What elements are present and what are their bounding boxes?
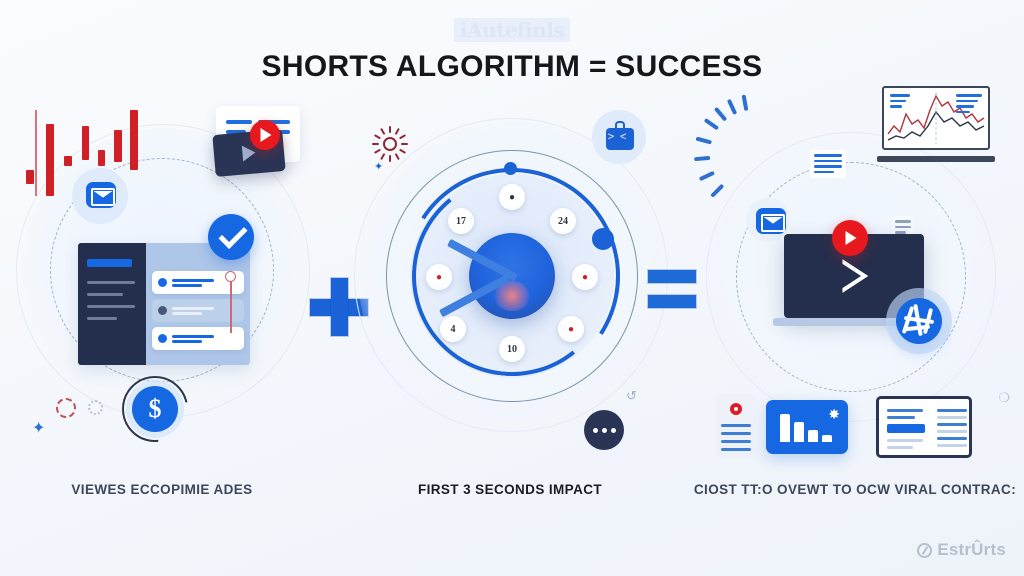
- dollar-icon[interactable]: $: [132, 386, 178, 432]
- laptop-text-left: [890, 94, 910, 111]
- clock-node-label: 24: [558, 216, 568, 227]
- tick-fan-icon: [694, 94, 814, 214]
- mail-icon[interactable]: [756, 208, 786, 234]
- bar: [808, 430, 818, 442]
- arc-knob-right: [592, 228, 614, 250]
- clock-node[interactable]: ●: [499, 184, 525, 210]
- close-icon: ❍: [998, 390, 1010, 406]
- sidebar-line: [87, 293, 123, 296]
- clock-node[interactable]: 4: [440, 316, 466, 342]
- brand-logo: EstrÛrts: [917, 540, 1006, 560]
- table-line: [937, 416, 967, 419]
- dashboard-sidebar: [78, 243, 146, 365]
- table-line: [937, 437, 967, 440]
- play-button[interactable]: [250, 120, 280, 150]
- sidebar-highlight: [87, 259, 132, 267]
- doc-line: [721, 432, 751, 435]
- clock-node-label: ●: [568, 324, 574, 335]
- panel-left: $ ✦: [12, 88, 312, 468]
- doc-line: [721, 424, 751, 427]
- briefcase-chevrons: ><: [606, 131, 634, 143]
- sunburst-icon: [372, 126, 408, 162]
- candle-bar: [82, 126, 89, 160]
- play-triangle-icon: [846, 231, 857, 245]
- clock-node[interactable]: ●: [572, 264, 598, 290]
- caption-left: VIEWES ECCOPIMIE ADES: [12, 482, 312, 497]
- dashboard-mockup[interactable]: [78, 243, 250, 365]
- doc-line: [721, 440, 751, 443]
- row-avatar: [158, 306, 167, 315]
- table-line: [887, 416, 915, 419]
- sidebar-line: [87, 317, 117, 320]
- more-dots-button[interactable]: [584, 410, 624, 450]
- sparkle-icon: ✸: [828, 406, 840, 423]
- table-line: [887, 439, 923, 442]
- table-block: [887, 424, 925, 433]
- panel-right: ✸ ❍: [700, 88, 1018, 468]
- candle-bar: [98, 150, 105, 166]
- emblem-icon[interactable]: [896, 298, 942, 344]
- sparkle-icon: ✦: [32, 418, 45, 438]
- brand-mark-icon: [917, 543, 932, 558]
- row-line: [172, 279, 214, 282]
- caption-right: CIOST TT:O OVEWT TO OCW VIRAL CONTRAC:: [690, 482, 1020, 497]
- doc-lines: [814, 154, 842, 176]
- dollar-symbol: $: [149, 394, 162, 424]
- sun-core: [383, 137, 397, 151]
- row-line: [172, 340, 202, 343]
- dot: [611, 428, 616, 433]
- table-line: [937, 444, 967, 447]
- video-card-line: [226, 120, 252, 124]
- bar: [794, 422, 804, 442]
- sidebar-line: [87, 305, 135, 308]
- clock-node-label: ●: [436, 272, 442, 283]
- briefcase-handle: [615, 121, 625, 129]
- candle-bar: [46, 124, 54, 196]
- bar: [780, 414, 790, 442]
- clock-node-label: 17: [456, 216, 466, 227]
- equals-operator: [648, 268, 696, 310]
- table-line: [887, 446, 913, 449]
- dot: [602, 428, 607, 433]
- table-line: [887, 409, 923, 412]
- clock-dial: ● 17 24 ● ● 4 ● 10: [386, 150, 638, 402]
- briefcase-icon[interactable]: ><: [606, 128, 634, 150]
- bar: [822, 435, 832, 442]
- clock-node-label: 4: [451, 324, 456, 335]
- clock-node-label: 10: [507, 344, 517, 355]
- table-line: [937, 423, 967, 426]
- laptop-chart[interactable]: [882, 86, 990, 162]
- link-icon: ↺: [626, 388, 637, 404]
- equals-bar-top: [648, 270, 696, 283]
- laptop-screen: [882, 86, 990, 150]
- clock-node[interactable]: 10: [499, 336, 525, 362]
- page-title: SHORTS ALGORITHM = SUCCESS: [0, 50, 1024, 84]
- sparkle-icon: ✦: [374, 160, 383, 173]
- mail-icon[interactable]: [86, 182, 116, 208]
- row-line: [172, 335, 214, 338]
- row-line: [172, 312, 202, 315]
- dot: [593, 428, 598, 433]
- document-lines-top: [810, 150, 846, 178]
- laptop-text-right: [956, 94, 982, 116]
- dotted-ring-icon: [56, 398, 76, 418]
- row-avatar: [158, 334, 167, 343]
- sidebar-line: [87, 281, 135, 284]
- clock-node[interactable]: 24: [550, 208, 576, 234]
- candle-bar: [26, 170, 34, 184]
- play-triangle-icon: [842, 259, 868, 293]
- arc-knob-top: [504, 162, 517, 175]
- document-card[interactable]: [716, 394, 756, 458]
- bar-chart-card[interactable]: ✸: [766, 400, 848, 454]
- table-line: [937, 430, 967, 433]
- clock-node-label: ●: [509, 192, 515, 203]
- row-avatar: [158, 278, 167, 287]
- check-badge: [208, 214, 254, 260]
- gear-icon: [88, 400, 103, 415]
- row-line: [172, 284, 202, 287]
- row-line: [172, 307, 214, 310]
- pin-marker: [230, 277, 232, 333]
- caption-center: FIRST 3 SECONDS IMPACT: [340, 482, 680, 497]
- clock-node[interactable]: ●: [558, 316, 584, 342]
- table-card[interactable]: [876, 396, 972, 458]
- candle-bar: [130, 110, 138, 170]
- play-triangle-icon: [261, 128, 272, 142]
- clock-node[interactable]: 17: [448, 208, 474, 234]
- clock-node-label: ●: [582, 272, 588, 283]
- doc-line: [721, 448, 751, 451]
- play-button[interactable]: [832, 220, 868, 256]
- clock-node[interactable]: ●: [426, 264, 452, 290]
- play-triangle-icon: [242, 144, 256, 161]
- candle-bar: [64, 156, 72, 166]
- record-dot-icon: [730, 403, 742, 415]
- candle-wick: [35, 110, 37, 196]
- equals-bar-bottom: [648, 295, 696, 308]
- watermark: iAutefinls: [0, 18, 1024, 42]
- pin-marker-head: [225, 271, 236, 282]
- candle-bar: [114, 130, 122, 162]
- watermark-text: iAutefinls: [454, 18, 570, 42]
- laptop-base: [877, 156, 996, 162]
- brand-name: EstrÛrts: [937, 540, 1006, 560]
- panel-center: ● 17 24 ● ● 4 ● 10 ✦: [340, 88, 680, 468]
- table-line: [937, 409, 967, 412]
